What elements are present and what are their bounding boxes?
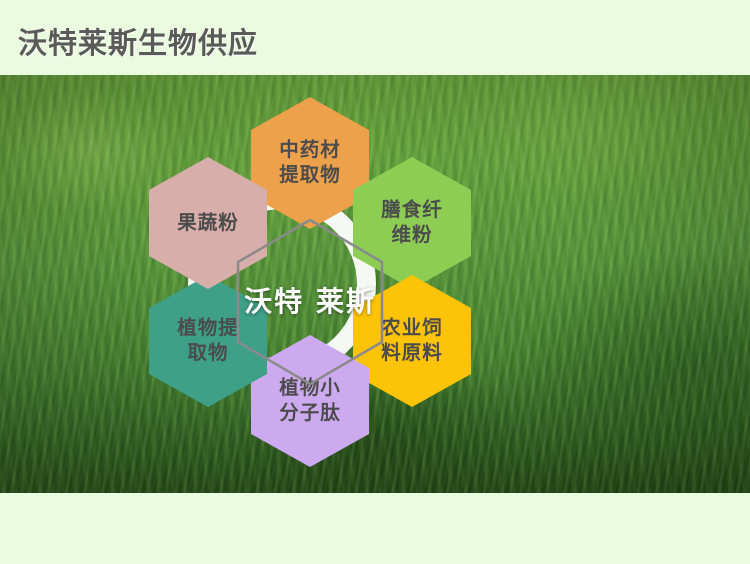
slide-canvas: 沃特莱斯生物供应 中药材 提取物 膳食纤 维粉 农业饲 料原料 植物小 分 [0,0,750,564]
hex-agricultural-feed-material-line1: 农业饲 [381,316,443,341]
hex-center-brand[interactable]: 沃特 莱斯 [235,218,385,386]
title-bar: 沃特莱斯生物供应 [0,0,750,75]
hex-tcm-extract-line2: 提取物 [279,163,341,188]
hex-wheel: 中药材 提取物 膳食纤 维粉 农业饲 料原料 植物小 分子肽 植物提 取物 果蔬… [125,85,495,485]
center-brand-line1: 沃特 [244,285,304,318]
hex-tcm-extract-line1: 中药材 [279,138,341,163]
bottom-padding [0,493,750,564]
hex-plant-extract-line1: 植物提 [177,316,239,341]
hex-dietary-fiber-powder-line2: 维粉 [391,223,432,248]
background-photo: 中药材 提取物 膳食纤 维粉 农业饲 料原料 植物小 分子肽 植物提 取物 果蔬… [0,75,750,493]
hex-fruit-vegetable-powder-line1: 果蔬粉 [177,211,239,236]
center-brand-label: 沃特 莱斯 [244,284,376,320]
hex-agricultural-feed-material-line2: 料原料 [381,341,443,366]
center-brand-line2: 莱斯 [316,285,376,318]
hex-dietary-fiber-powder-line1: 膳食纤 [381,198,443,223]
page-title: 沃特莱斯生物供应 [18,20,258,62]
hex-plant-small-molecule-peptide-line2: 分子肽 [279,401,341,426]
hex-plant-extract-line2: 取物 [187,341,228,366]
